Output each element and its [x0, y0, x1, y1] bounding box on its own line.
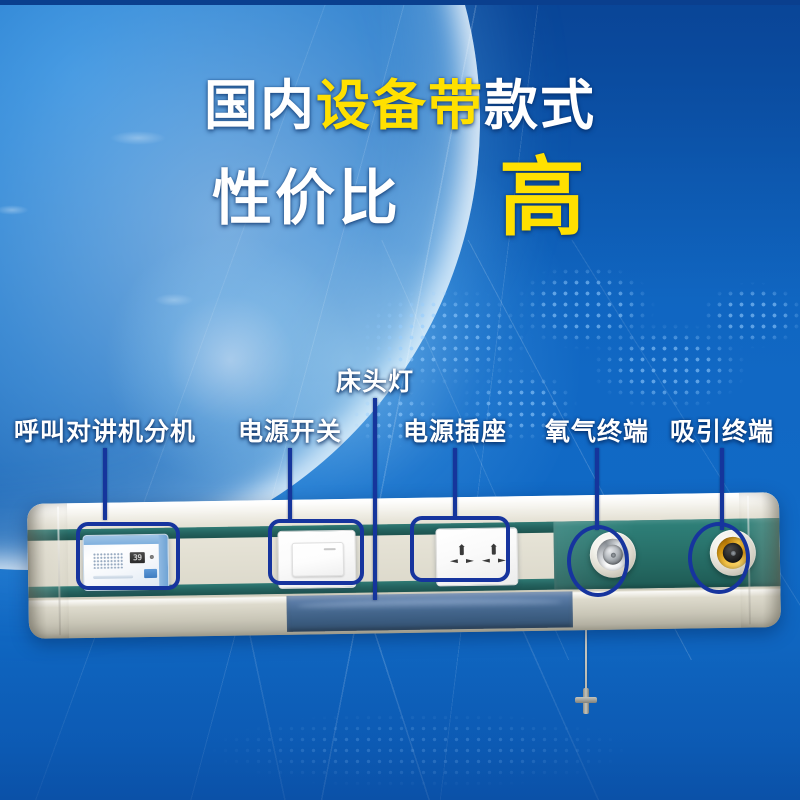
- callout-label-group: 呼叫对讲机分机 电源开关 床头灯 电源插座 氧气终端 吸引终端: [0, 0, 800, 800]
- leader-line-power-switch: [288, 448, 292, 520]
- leader-line-oxygen-terminal: [595, 448, 599, 530]
- leader-line-power-socket: [453, 448, 457, 518]
- callout-label-intercom: 呼叫对讲机分机: [14, 412, 196, 448]
- leader-line-intercom: [103, 448, 107, 520]
- callout-label-power-socket: 电源插座: [403, 412, 507, 448]
- leader-line-suction-terminal: [720, 448, 724, 530]
- leader-line-bed-lamp: [373, 398, 377, 600]
- callout-label-bed-lamp: 床头灯: [336, 362, 414, 398]
- product-banner: 国内设备带款式 性价比高 呼叫对讲机分机 电源开关 床头灯 电源插座 氧气终端 …: [0, 0, 800, 800]
- callout-label-oxygen-terminal: 氧气终端: [545, 412, 649, 448]
- top-edge-bar: [0, 0, 800, 5]
- callout-label-power-switch: 电源开关: [238, 412, 342, 448]
- callout-label-suction-terminal: 吸引终端: [670, 412, 774, 448]
